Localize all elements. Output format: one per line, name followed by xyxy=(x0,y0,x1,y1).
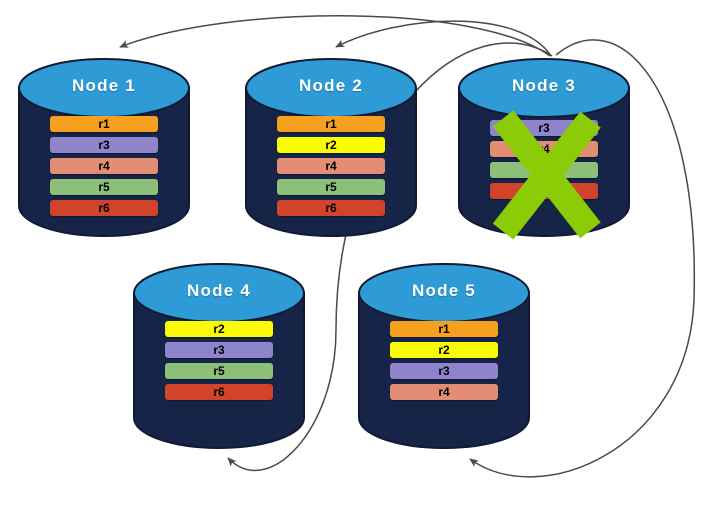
node-cylinder-2[interactable]: Node 2r1r2r4r5r6 xyxy=(245,58,417,236)
replica-label: r3 xyxy=(538,121,549,135)
replica-label: r4 xyxy=(538,142,549,156)
arrow-node3-to-node1 xyxy=(120,16,550,56)
replica-bar[interactable]: r2 xyxy=(390,342,498,358)
replica-label: r1 xyxy=(325,117,336,131)
replica-bar[interactable]: r3 xyxy=(490,120,598,136)
replica-label: r5 xyxy=(538,163,549,177)
node-cylinder-3[interactable]: Node 3r3r4r5r6 xyxy=(458,58,630,236)
cylinder-top-disc xyxy=(246,59,416,117)
replica-label: r5 xyxy=(213,364,224,378)
replica-bar[interactable]: r3 xyxy=(165,342,273,358)
replica-stack: r1r2r3r4 xyxy=(358,321,530,405)
replica-bar[interactable]: r6 xyxy=(490,183,598,199)
replica-bar[interactable]: r6 xyxy=(50,200,158,216)
cylinder-top-disc xyxy=(459,59,629,117)
replica-label: r5 xyxy=(325,180,336,194)
replica-label: r4 xyxy=(98,159,109,173)
replica-label: r6 xyxy=(325,201,336,215)
cylinder-top-disc xyxy=(19,59,189,117)
replica-bar[interactable]: r6 xyxy=(165,384,273,400)
replica-stack: r1r3r4r5r6 xyxy=(18,116,190,221)
replica-label: r6 xyxy=(213,385,224,399)
node-cylinder-5[interactable]: Node 5r1r2r3r4 xyxy=(358,263,530,448)
replica-bar[interactable]: r4 xyxy=(277,158,385,174)
replica-label: r2 xyxy=(213,322,224,336)
replica-bar[interactable]: r5 xyxy=(165,363,273,379)
replica-bar[interactable]: r4 xyxy=(490,141,598,157)
replica-label: r6 xyxy=(98,201,109,215)
replica-label: r2 xyxy=(438,343,449,357)
node-cylinder-4[interactable]: Node 4r2r3r5r6 xyxy=(133,263,305,448)
replica-label: r3 xyxy=(98,138,109,152)
cylinder-top-disc xyxy=(134,264,304,322)
replica-bar[interactable]: r5 xyxy=(490,162,598,178)
replica-bar[interactable]: r5 xyxy=(50,179,158,195)
arrow-node3-to-node2 xyxy=(336,21,551,56)
diagram-canvas: Node 1r1r3r4r5r6Node 2r1r2r4r5r6Node 3r3… xyxy=(0,0,708,508)
node-cylinder-1[interactable]: Node 1r1r3r4r5r6 xyxy=(18,58,190,236)
replica-label: r1 xyxy=(98,117,109,131)
replica-label: r4 xyxy=(325,159,336,173)
replica-stack: r1r2r4r5r6 xyxy=(245,116,417,221)
replica-bar[interactable]: r1 xyxy=(390,321,498,337)
replica-label: r5 xyxy=(98,180,109,194)
replica-bar[interactable]: r2 xyxy=(277,137,385,153)
replica-bar[interactable]: r1 xyxy=(277,116,385,132)
replica-label: r3 xyxy=(438,364,449,378)
replica-label: r4 xyxy=(438,385,449,399)
replica-bar[interactable]: r2 xyxy=(165,321,273,337)
replica-label: r6 xyxy=(538,184,549,198)
replica-bar[interactable]: r6 xyxy=(277,200,385,216)
replica-label: r1 xyxy=(438,322,449,336)
replica-bar[interactable]: r4 xyxy=(390,384,498,400)
replica-bar[interactable]: r1 xyxy=(50,116,158,132)
replica-bar[interactable]: r3 xyxy=(390,363,498,379)
replica-stack: r3r4r5r6 xyxy=(458,120,630,204)
replica-label: r2 xyxy=(325,138,336,152)
replica-stack: r2r3r5r6 xyxy=(133,321,305,405)
replica-bar[interactable]: r3 xyxy=(50,137,158,153)
replica-bar[interactable]: r5 xyxy=(277,179,385,195)
cylinder-top-disc xyxy=(359,264,529,322)
replica-label: r3 xyxy=(213,343,224,357)
replica-bar[interactable]: r4 xyxy=(50,158,158,174)
